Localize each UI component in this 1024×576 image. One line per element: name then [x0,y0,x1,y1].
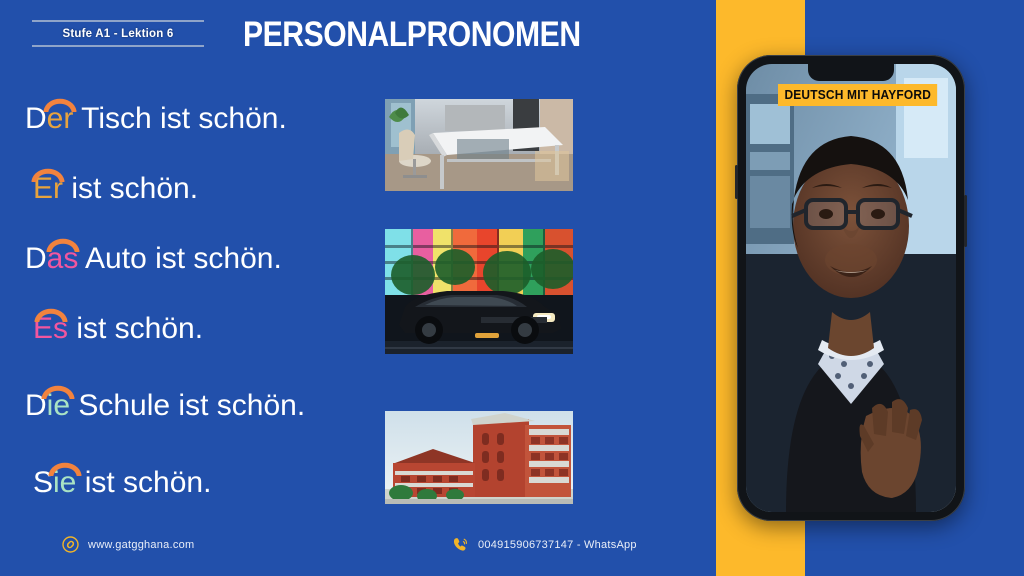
pronoun-highlight: ie [53,460,76,506]
footer-website[interactable]: www.gatgghana.com [62,536,194,553]
pronoun-highlight-text: ie [47,389,70,422]
sentence-suffix: Tisch ist schön. [73,102,286,135]
phone-mockup: DEUTSCH MIT HAYFORD [737,55,965,521]
sentence-prefix: D [25,102,47,135]
pronoun-highlight: er [47,96,74,142]
school-photo [385,411,573,504]
video-frame [746,64,956,512]
pronoun-highlight-text: Es [33,312,68,345]
lesson-badge: Stufe A1 - Lektion 6 [32,20,204,47]
sentence-text: Das Auto ist schön. [25,236,282,282]
sentence-row: Das Auto ist schön. [0,236,716,302]
sentence-row: Sie ist schön. [0,460,716,526]
pronoun-highlight-text: ie [53,466,76,499]
phone-icon [452,536,469,553]
pronoun-highlight: ie [47,383,70,429]
pronoun-highlight: as [47,236,79,282]
badge-rule-bottom [32,45,204,47]
sentence-row: Die Schule ist schön. [0,383,716,449]
pronoun-highlight-text: er [47,102,74,135]
footer-phone-label: 004915906737147 - WhatsApp [478,539,637,551]
sentence-text: Die Schule ist schön. [25,383,305,429]
sentence-suffix: Auto ist schön. [78,242,281,275]
sentence-row: Es ist schön. [0,306,716,372]
footer: www.gatgghana.com 004915906737147 - What… [0,530,716,576]
video-caption: DEUTSCH MIT HAYFORD [778,84,937,106]
sentence-text: Es ist schön. [33,306,203,352]
link-icon [62,536,79,553]
sentence-text: Er ist schön. [33,166,198,212]
pronoun-highlight-text: as [47,242,79,275]
badge-rule-top [32,20,204,22]
car-photo [385,229,573,354]
pronoun-highlight-text: Er [33,172,63,205]
lesson-badge-label: Stufe A1 - Lektion 6 [32,28,204,40]
sentence-row: Er ist schön. [0,166,716,232]
sentence-row: Der Tisch ist schön. [0,96,716,162]
pronoun-highlight: Es [33,306,68,352]
pronoun-highlight: Er [33,166,63,212]
sentence-list: Der Tisch ist schön. Er ist schön. Das A… [0,88,716,518]
sentence-suffix: Schule ist schön. [70,389,305,422]
slide-root: Stufe A1 - Lektion 6 PERSONALPRONOMEN De… [0,0,1024,576]
footer-website-label: www.gatgghana.com [88,539,194,551]
sentence-suffix: ist schön. [63,172,198,205]
footer-phone[interactable]: 004915906737147 - WhatsApp [452,536,637,553]
desk-photo [385,99,573,191]
phone-notch [808,64,894,81]
sentence-prefix: S [33,466,53,499]
phone-screen: DEUTSCH MIT HAYFORD [746,64,956,512]
sentence-text: Sie ist schön. [33,460,211,506]
sentence-prefix: D [25,242,47,275]
sentence-prefix: D [25,389,47,422]
sentence-text: Der Tisch ist schön. [25,96,287,142]
page-title: PERSONALPRONOMEN [243,16,581,54]
sentence-suffix: ist schön. [76,466,211,499]
sentence-suffix: ist schön. [68,312,203,345]
